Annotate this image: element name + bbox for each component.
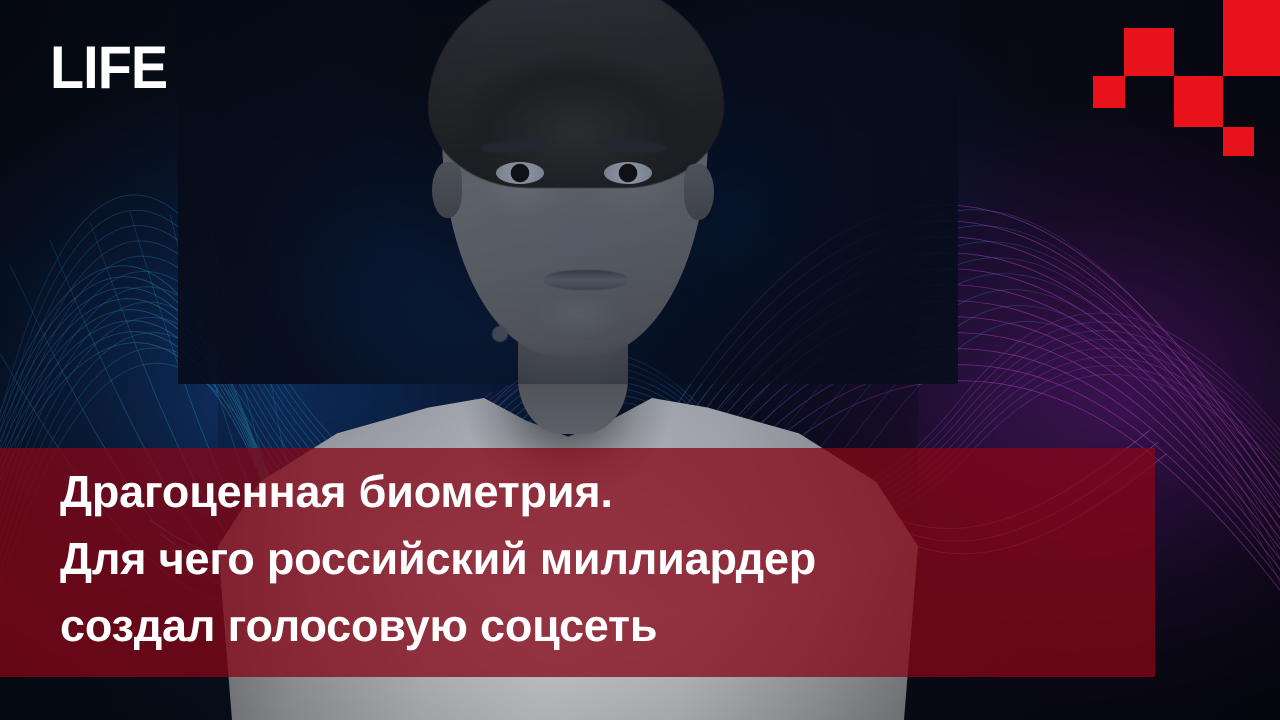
headline-text: Драгоценная биометрия. Для чего российск…	[60, 458, 1150, 659]
mosaic-square-1	[1223, 0, 1280, 76]
mosaic-square-3	[1093, 76, 1125, 108]
life-logo[interactable]: LIFE	[50, 38, 167, 98]
mosaic-square-5	[1223, 127, 1254, 156]
mosaic-square-2	[1124, 28, 1174, 76]
video-thumbnail: LIFE Драгоценная биометрия. Для чего рос…	[0, 0, 1280, 720]
mosaic-square-4	[1174, 76, 1223, 127]
red-pixel-mosaic	[1050, 0, 1280, 180]
